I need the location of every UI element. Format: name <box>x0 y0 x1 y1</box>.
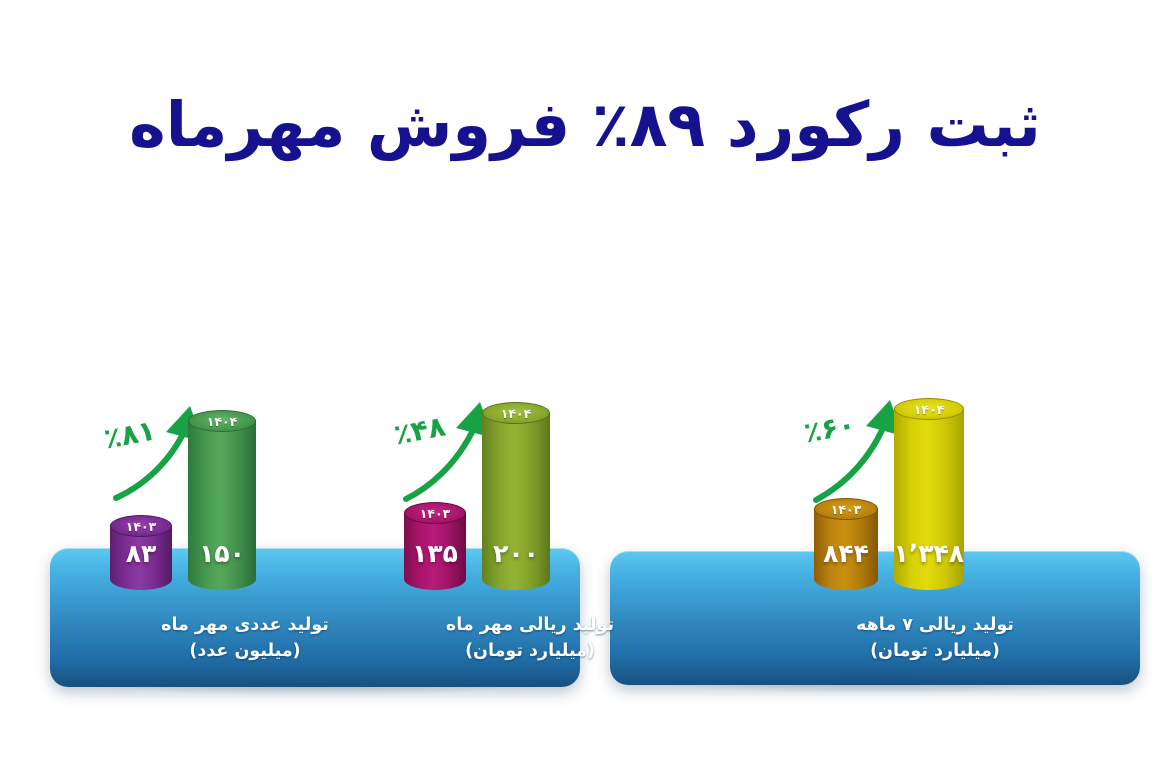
bar-1403-count: ۱۴۰۳ ۸۳ <box>110 515 172 590</box>
chart-group-count-mehr: ٪۸۱ ۱۴۰۳ ۸۳ ۱۴۰۴ ۱۵۰ <box>100 390 290 590</box>
page-title: ثبت رکورد ۸۹٪ فروش مهرماه <box>0 92 1170 157</box>
chart-group-rial-7month: ٪۶۰ ۱۴۰۳ ۸۴۴ ۱۴۰۴ ۱٬۳۴۸ <box>800 376 990 590</box>
caption-line-2: (میلیارد تومان) <box>390 638 670 664</box>
caption-line-2: (میلیارد تومان) <box>795 638 1075 664</box>
bar-1403-rial-7month: ۱۴۰۳ ۸۴۴ <box>814 498 878 590</box>
caption-count-mehr: تولید عددی مهر ماه (میلیون عدد) <box>105 612 385 665</box>
bar-value-label: ۱۳۵ <box>404 539 466 568</box>
bar-1404-count: ۱۴۰۴ ۱۵۰ <box>188 410 256 590</box>
bar-year-label: ۱۴۰۳ <box>110 516 172 536</box>
bar-year-label: ۱۴۰۳ <box>814 499 878 519</box>
bar-value-label: ۸۳ <box>110 539 172 568</box>
caption-line-1: تولید ریالی مهر ماه <box>446 615 614 635</box>
bar-1403-rial-mehr: ۱۴۰۳ ۱۳۵ <box>404 502 466 590</box>
caption-line-2: (میلیون عدد) <box>105 638 385 664</box>
caption-rial-mehr: تولید ریالی مهر ماه (میلیارد تومان) <box>390 612 670 665</box>
bar-year-label: ۱۴۰۴ <box>894 399 964 419</box>
bar-value-label: ۱٬۳۴۸ <box>894 539 964 568</box>
caption-rial-7month: تولید ریالی ۷ ماهه (میلیارد تومان) <box>795 612 1075 665</box>
bar-value-label: ۱۵۰ <box>188 539 256 568</box>
caption-line-1: تولید عددی مهر ماه <box>161 615 329 635</box>
bar-1404-rial-7month: ۱۴۰۴ ۱٬۳۴۸ <box>894 398 964 590</box>
bar-year-label: ۱۴۰۴ <box>482 403 550 423</box>
infographic-canvas: ثبت رکورد ۸۹٪ فروش مهرماه ٪۸۱ ۱۴۰۳ ۸۳ ۱۴… <box>0 0 1170 777</box>
caption-line-1: تولید ریالی ۷ ماهه <box>856 615 1014 635</box>
bar-year-label: ۱۴۰۳ <box>404 503 466 523</box>
bar-1404-rial-mehr: ۱۴۰۴ ۲۰۰ <box>482 402 550 590</box>
chart-group-rial-mehr: ٪۴۸ ۱۴۰۳ ۱۳۵ ۱۴۰۴ ۲۰۰ <box>390 380 580 590</box>
bar-value-label: ۲۰۰ <box>482 539 550 568</box>
bar-year-label: ۱۴۰۴ <box>188 411 256 431</box>
bar-value-label: ۸۴۴ <box>814 539 878 568</box>
